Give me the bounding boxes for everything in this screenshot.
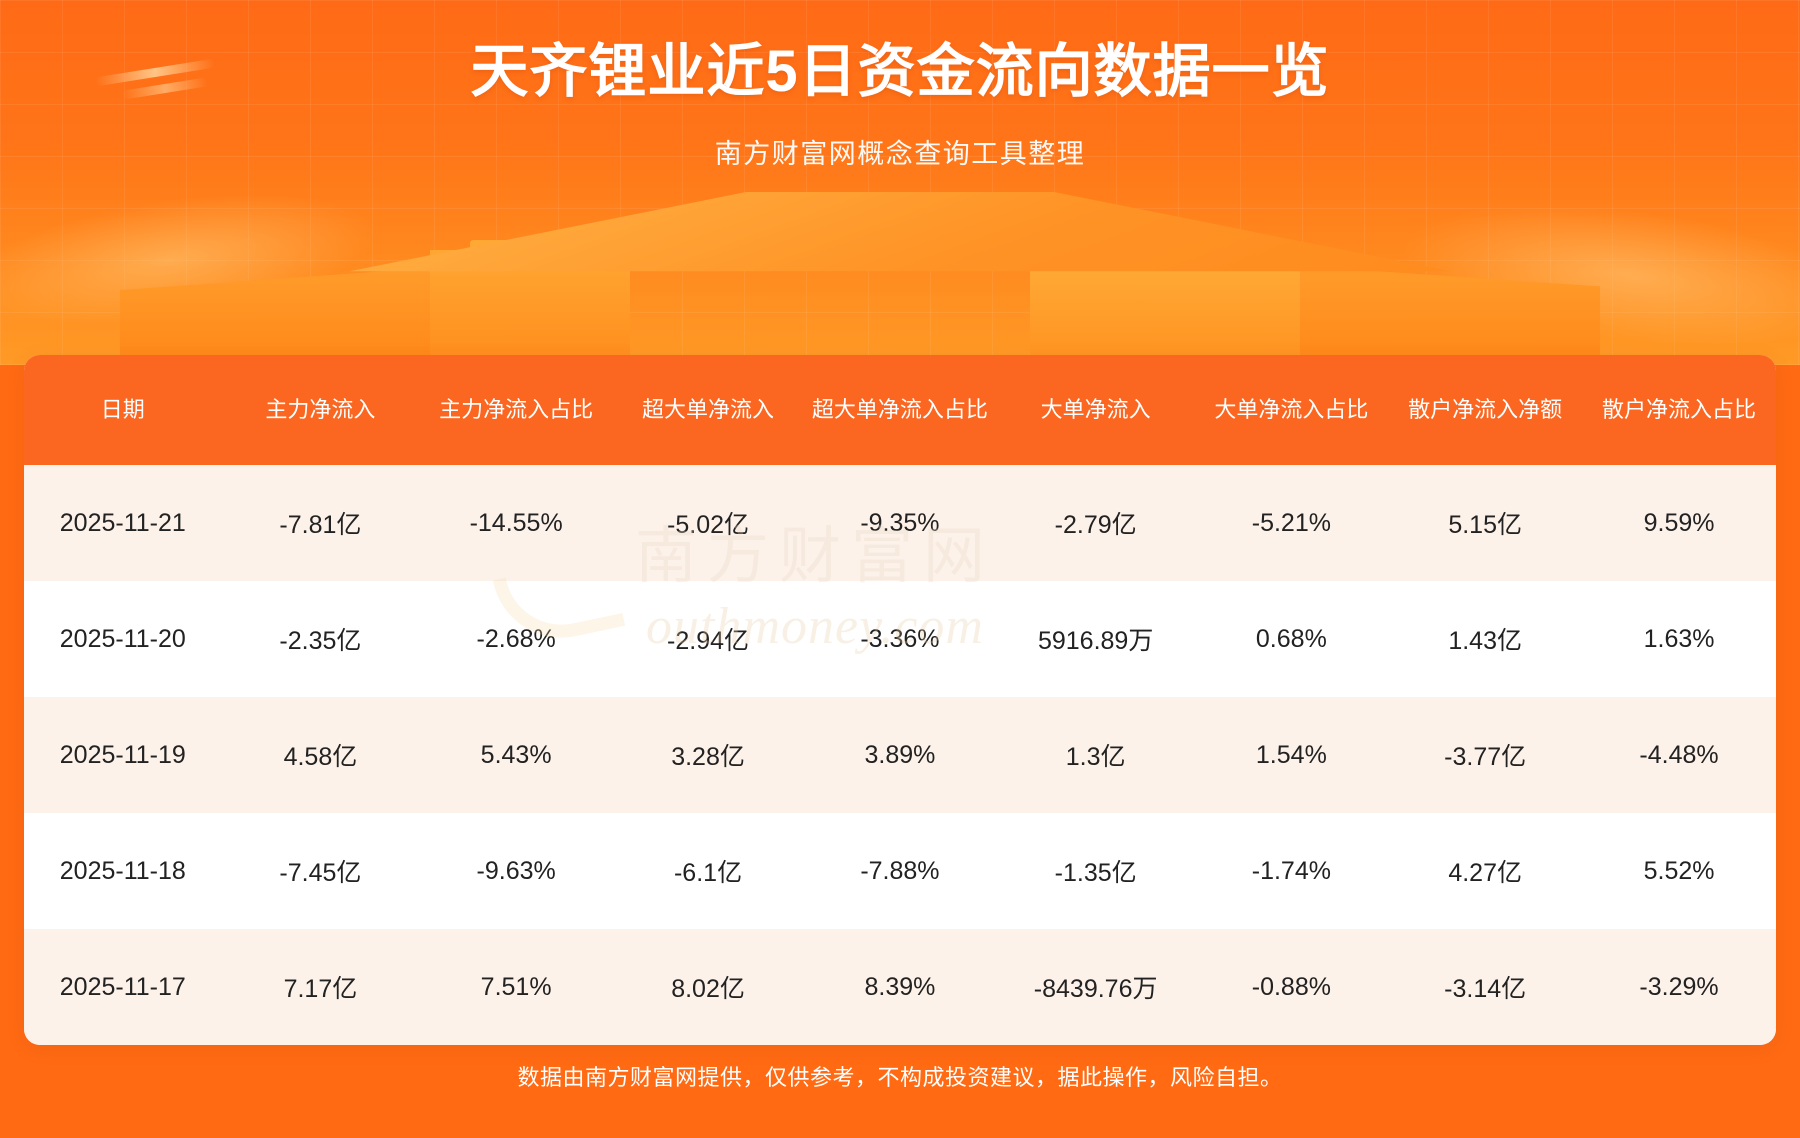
- table-row: 2025-11-20 -2.35亿 -2.68% -2.94亿 -3.36% 5…: [24, 581, 1776, 697]
- cell-main-pct: 7.51%: [419, 929, 613, 1045]
- cell-lg-net: -2.79亿: [997, 465, 1195, 581]
- table-header: 日期 主力净流入 主力净流入占比 超大单净流入 超大单净流入占比 大单净流入 大…: [24, 355, 1776, 465]
- cell-lg-net: -8439.76万: [997, 929, 1195, 1045]
- cell-lg-net: 1.3亿: [997, 697, 1195, 813]
- cell-main-net: 7.17亿: [222, 929, 420, 1045]
- cell-retail-net: 4.27亿: [1388, 813, 1582, 929]
- cell-date: 2025-11-21: [24, 465, 222, 581]
- footer-disclaimer: 数据由南方财富网提供，仅供参考，不构成投资建议，据此操作，风险自担。: [0, 1060, 1800, 1092]
- column-header-lg-pct: 大单净流入占比: [1194, 355, 1388, 465]
- data-table-card: 日期 主力净流入 主力净流入占比 超大单净流入 超大单净流入占比 大单净流入 大…: [24, 355, 1776, 1045]
- cell-retail-pct: -3.29%: [1582, 929, 1776, 1045]
- cell-date: 2025-11-19: [24, 697, 222, 813]
- podium-block: [1300, 266, 1600, 365]
- page-title: 天齐锂业近5日资金流向数据一览: [0, 38, 1800, 106]
- cell-main-net: 4.58亿: [222, 697, 420, 813]
- cell-xl-net: 3.28亿: [613, 697, 803, 813]
- cell-retail-pct: -4.48%: [1582, 697, 1776, 813]
- cell-retail-pct: 9.59%: [1582, 465, 1776, 581]
- title-block: 天齐锂业近5日资金流向数据一览 南方财富网概念查询工具整理: [0, 38, 1800, 171]
- cell-date: 2025-11-20: [24, 581, 222, 697]
- table-header-row: 日期 主力净流入 主力净流入占比 超大单净流入 超大单净流入占比 大单净流入 大…: [24, 355, 1776, 465]
- cell-lg-pct: 0.68%: [1194, 581, 1388, 697]
- table-row: 2025-11-21 -7.81亿 -14.55% -5.02亿 -9.35% …: [24, 465, 1776, 581]
- cell-xl-net: 8.02亿: [613, 929, 803, 1045]
- table-body: 2025-11-21 -7.81亿 -14.55% -5.02亿 -9.35% …: [24, 465, 1776, 1045]
- cell-main-net: -7.45亿: [222, 813, 420, 929]
- cell-xl-pct: -9.35%: [803, 465, 997, 581]
- cell-retail-pct: 1.63%: [1582, 581, 1776, 697]
- table-row: 2025-11-17 7.17亿 7.51% 8.02亿 8.39% -8439…: [24, 929, 1776, 1045]
- cell-lg-pct: 1.54%: [1194, 697, 1388, 813]
- cell-xl-net: -5.02亿: [613, 465, 803, 581]
- cell-main-pct: -14.55%: [419, 465, 613, 581]
- cell-retail-net: -3.14亿: [1388, 929, 1582, 1045]
- cell-lg-pct: -5.21%: [1194, 465, 1388, 581]
- cell-lg-pct: -1.74%: [1194, 813, 1388, 929]
- fund-flow-table: 日期 主力净流入 主力净流入占比 超大单净流入 超大单净流入占比 大单净流入 大…: [24, 355, 1776, 1045]
- cell-lg-pct: -0.88%: [1194, 929, 1388, 1045]
- column-header-xl-net: 超大单净流入: [613, 355, 803, 465]
- cell-main-pct: 5.43%: [419, 697, 613, 813]
- column-header-main-net: 主力净流入: [222, 355, 420, 465]
- cell-retail-net: -3.77亿: [1388, 697, 1582, 813]
- cell-xl-pct: 8.39%: [803, 929, 997, 1045]
- podium-decoration: [0, 180, 1800, 365]
- column-header-retail-net: 散户净流入净额: [1388, 355, 1582, 465]
- page-subtitle: 南方财富网概念查询工具整理: [0, 132, 1800, 171]
- cell-xl-pct: -7.88%: [803, 813, 997, 929]
- cell-xl-pct: -3.36%: [803, 581, 997, 697]
- column-header-lg-net: 大单净流入: [997, 355, 1195, 465]
- cell-main-pct: -2.68%: [419, 581, 613, 697]
- cell-main-pct: -9.63%: [419, 813, 613, 929]
- column-header-date: 日期: [24, 355, 222, 465]
- column-header-retail-pct: 散户净流入占比: [1582, 355, 1776, 465]
- cell-retail-net: 1.43亿: [1388, 581, 1582, 697]
- cell-retail-pct: 5.52%: [1582, 813, 1776, 929]
- cell-xl-net: -2.94亿: [613, 581, 803, 697]
- cell-date: 2025-11-17: [24, 929, 222, 1045]
- cell-lg-net: -1.35亿: [997, 813, 1195, 929]
- cell-xl-pct: 3.89%: [803, 697, 997, 813]
- cell-retail-net: 5.15亿: [1388, 465, 1582, 581]
- table-row: 2025-11-18 -7.45亿 -9.63% -6.1亿 -7.88% -1…: [24, 813, 1776, 929]
- cell-main-net: -2.35亿: [222, 581, 420, 697]
- podium-block: [120, 268, 430, 365]
- cell-main-net: -7.81亿: [222, 465, 420, 581]
- cell-lg-net: 5916.89万: [997, 581, 1195, 697]
- table-row: 2025-11-19 4.58亿 5.43% 3.28亿 3.89% 1.3亿 …: [24, 697, 1776, 813]
- column-header-main-pct: 主力净流入占比: [419, 355, 613, 465]
- cell-xl-net: -6.1亿: [613, 813, 803, 929]
- column-header-xl-pct: 超大单净流入占比: [803, 355, 997, 465]
- cell-date: 2025-11-18: [24, 813, 222, 929]
